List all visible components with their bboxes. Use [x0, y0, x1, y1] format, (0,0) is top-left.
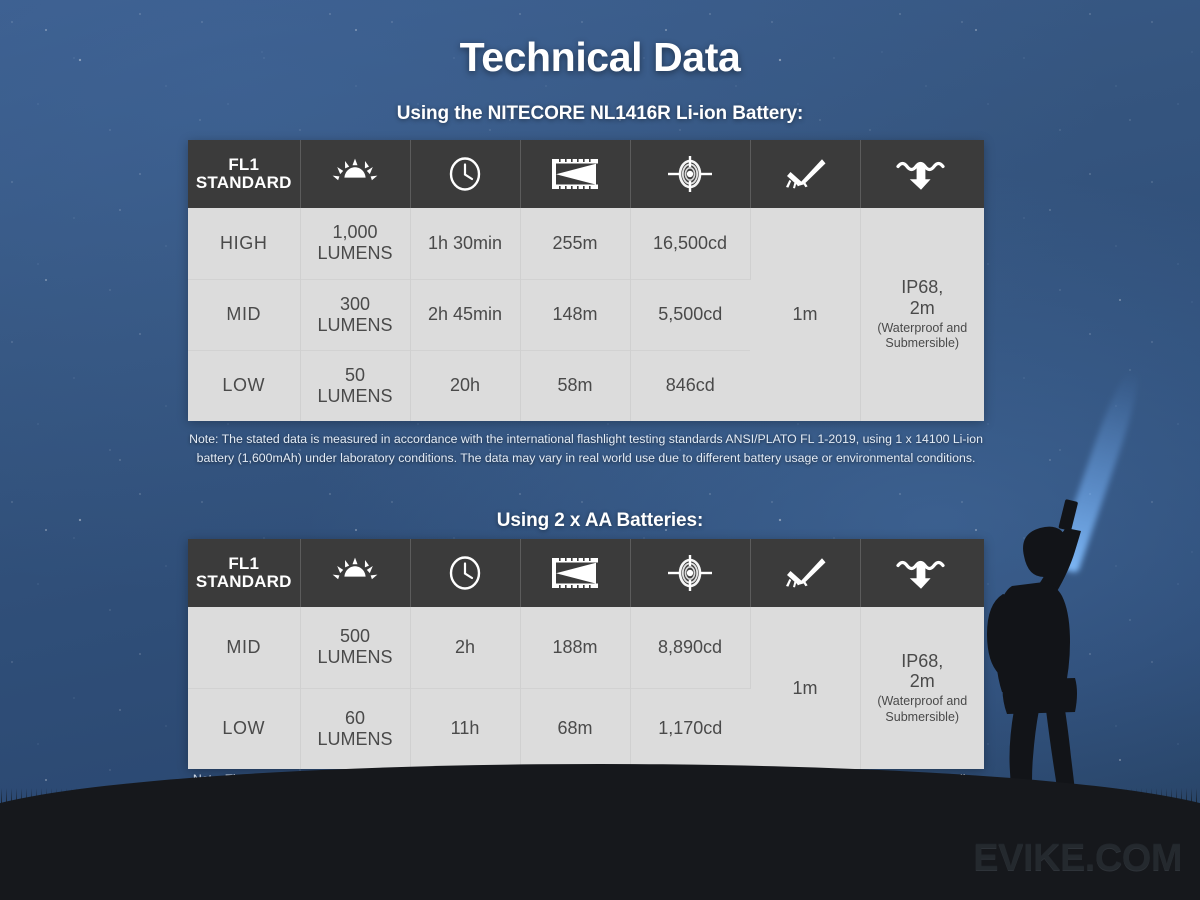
water-resistance-note: (Waterproof and Submersible) — [861, 694, 985, 725]
cell-impact-resistance: 1m — [750, 208, 860, 421]
cell-distance: 58m — [520, 350, 630, 421]
section-1-subtitle: Using the NITECORE NL1416R Li-ion Batter… — [0, 103, 1200, 125]
column-header-water-resistance — [860, 140, 984, 208]
column-header-lumens — [300, 140, 410, 208]
beam-distance-icon — [549, 556, 601, 590]
cell-distance: 255m — [520, 208, 630, 279]
column-header-peak-beam-intensity — [630, 140, 750, 208]
cell-mode: HIGH — [188, 208, 300, 279]
clock-runtime-icon — [448, 555, 482, 591]
page-title: Technical Data — [0, 34, 1200, 81]
column-header-fl1-standard: FL1 STANDARD — [188, 140, 300, 208]
column-header-water-resistance — [860, 539, 984, 607]
cell-runtime: 11h — [410, 688, 520, 769]
column-header-lumens — [300, 539, 410, 607]
section-2-subtitle: Using 2 x AA Batteries: — [0, 510, 1200, 532]
cell-water-resistance: IP68,2m (Waterproof and Submersible) — [860, 208, 984, 421]
cell-runtime: 20h — [410, 350, 520, 421]
cell-output: 50LUMENS — [300, 350, 410, 421]
cell-mode: MID — [188, 607, 300, 688]
cell-runtime: 2h — [410, 607, 520, 688]
cell-runtime: 1h 30min — [410, 208, 520, 279]
cell-intensity: 16,500cd — [630, 208, 750, 279]
cell-mode: MID — [188, 279, 300, 350]
cell-intensity: 1,170cd — [630, 688, 750, 769]
fl1-standard-line-2: STANDARD — [196, 572, 292, 591]
column-header-beam-distance — [520, 539, 630, 607]
cell-distance: 148m — [520, 279, 630, 350]
cell-output: 1,000LUMENS — [300, 208, 410, 279]
impact-resistance-icon — [783, 555, 827, 591]
peak-beam-intensity-target-icon — [667, 155, 713, 193]
cell-distance: 188m — [520, 607, 630, 688]
peak-beam-intensity-target-icon — [667, 554, 713, 592]
impact-resistance-icon — [783, 156, 827, 192]
cell-mode: LOW — [188, 350, 300, 421]
infographic-canvas: Technical Data Using the NITECORE NL1416… — [0, 0, 1200, 900]
water-resistance-note: (Waterproof and Submersible) — [861, 321, 985, 352]
water-resistance-icon — [895, 156, 949, 192]
table-row: MID 500LUMENS 2h 188m 8,890cd 1m IP68,2m… — [188, 607, 984, 688]
cell-output: 500LUMENS — [300, 607, 410, 688]
fl1-standard-line-1: FL1 — [228, 155, 259, 174]
column-header-impact-resistance — [750, 539, 860, 607]
section-1-footnote: Note: The stated data is measured in acc… — [186, 430, 986, 469]
technical-data-table-li-ion: FL1 STANDARD — [188, 140, 984, 421]
fl1-standard-line-2: STANDARD — [196, 173, 292, 192]
column-header-runtime — [410, 539, 520, 607]
column-header-peak-beam-intensity — [630, 539, 750, 607]
column-header-impact-resistance — [750, 140, 860, 208]
clock-runtime-icon — [448, 156, 482, 192]
column-header-beam-distance — [520, 140, 630, 208]
column-header-runtime — [410, 140, 520, 208]
cell-intensity: 5,500cd — [630, 279, 750, 350]
cell-mode: LOW — [188, 688, 300, 769]
cell-distance: 68m — [520, 688, 630, 769]
cell-intensity: 846cd — [630, 350, 750, 421]
table-header-row: FL1 STANDARD — [188, 539, 984, 607]
cell-output: 60LUMENS — [300, 688, 410, 769]
beam-distance-icon — [549, 157, 601, 191]
sun-brightness-icon — [332, 158, 378, 190]
water-resistance-icon — [895, 555, 949, 591]
cell-runtime: 2h 45min — [410, 279, 520, 350]
sun-brightness-icon — [332, 557, 378, 589]
fl1-standard-line-1: FL1 — [228, 554, 259, 573]
flashlight-beam — [1052, 368, 1146, 574]
table-row: HIGH 1,000LUMENS 1h 30min 255m 16,500cd … — [188, 208, 984, 279]
column-header-fl1-standard: FL1 STANDARD — [188, 539, 300, 607]
cell-water-resistance: IP68,2m (Waterproof and Submersible) — [860, 607, 984, 769]
technical-data-table-aa: FL1 STANDARD — [188, 539, 984, 769]
table-header-row: FL1 STANDARD — [188, 140, 984, 208]
cell-impact-resistance: 1m — [750, 607, 860, 769]
cell-intensity: 8,890cd — [630, 607, 750, 688]
cell-output: 300LUMENS — [300, 279, 410, 350]
evike-watermark: EVIKE.COM — [973, 837, 1182, 880]
